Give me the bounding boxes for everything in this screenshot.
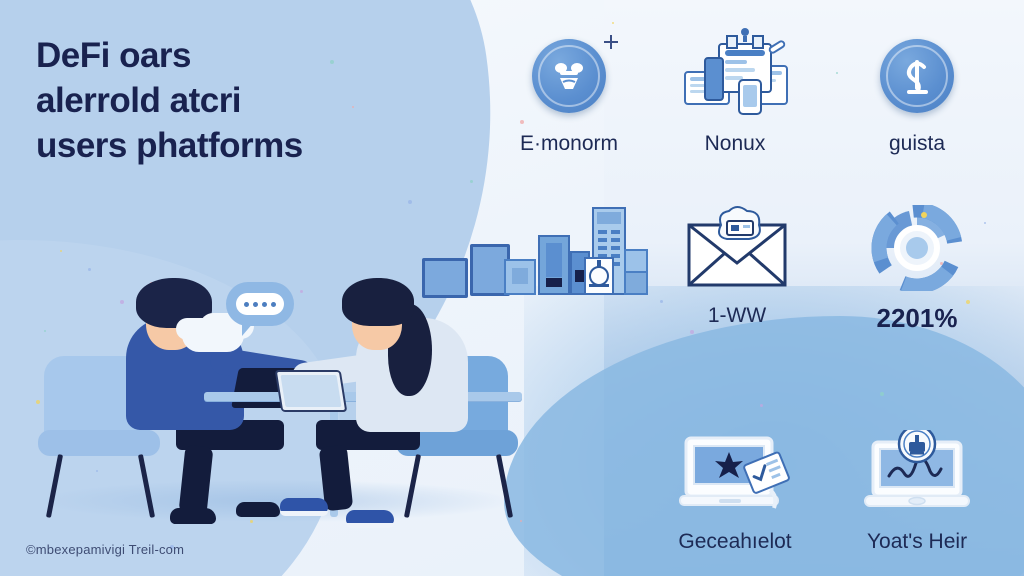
grid-item-label: Nonux [660,132,810,155]
grid-item-envelope-mail[interactable]: 1-WW [662,196,812,327]
wall-frame-small [422,258,468,298]
right-person-shoe-back-sole [346,523,394,528]
headline-line-3: users phatforms [36,124,396,169]
grid-item-coin-currency[interactable]: guista [842,24,992,155]
chair-right-leg-front [404,454,421,518]
speech-bubble-dots [236,293,284,315]
left-person-shoe-back [236,502,280,517]
right-person-laptop [275,370,348,412]
buildings-icon [500,196,650,300]
donut-chart-icon [842,196,992,300]
coin-currency-icon [842,24,992,128]
speech-bubble [226,282,294,326]
coin-face-icon [494,24,644,128]
envelope-icon [662,196,812,300]
icon-grid: E·monorm [494,24,1006,554]
grid-item-coin-angry-face[interactable]: E·monorm [494,24,644,155]
grid-item-laptop-badge[interactable]: Yoat's Heir [842,422,992,553]
chair-left-leg-back [138,454,155,518]
grid-item-label: Geceahıelot [660,530,810,553]
chair-left-leg-front [46,454,63,518]
left-person-shoe-front [170,508,216,524]
grid-item-label: Yoat's Heir [842,530,992,553]
page-title: DeFi oars alerrold atcri users phatforms [36,34,396,168]
headline-line-1: DeFi oars [36,34,396,79]
grid-item-label: E·monorm [494,132,644,155]
footer-watermark: ©mbexepamivigi Treil-com [26,542,184,557]
grid-item-laptop-star[interactable]: Geceahıelot [660,422,810,553]
illustration-scene [30,270,550,540]
right-person-hair [342,278,414,326]
grid-item-devices-stack[interactable]: Nonux [660,24,810,155]
right-person-shoe-front-sole [280,511,328,516]
cloud-icon [182,318,244,352]
grid-item-label: 1-WW [662,304,812,327]
laptop-chart-icon [842,422,992,526]
laptop-star-icon [660,422,810,526]
poster-canvas: DeFi oars alerrold atcri users phatforms… [0,0,1024,576]
grid-item-label: 2201% [842,304,992,333]
headline-line-2: alerrold atcri [36,79,396,124]
chair-left-seat [38,430,160,456]
speech-bubble-tail [242,322,254,336]
left-person-shin [179,445,214,516]
grid-item-donut-chart[interactable]: 2201% [842,196,992,333]
devices-screens-icon [660,24,810,128]
grid-item-city-buildings[interactable] [500,196,650,304]
grid-item-label: guista [842,132,992,155]
